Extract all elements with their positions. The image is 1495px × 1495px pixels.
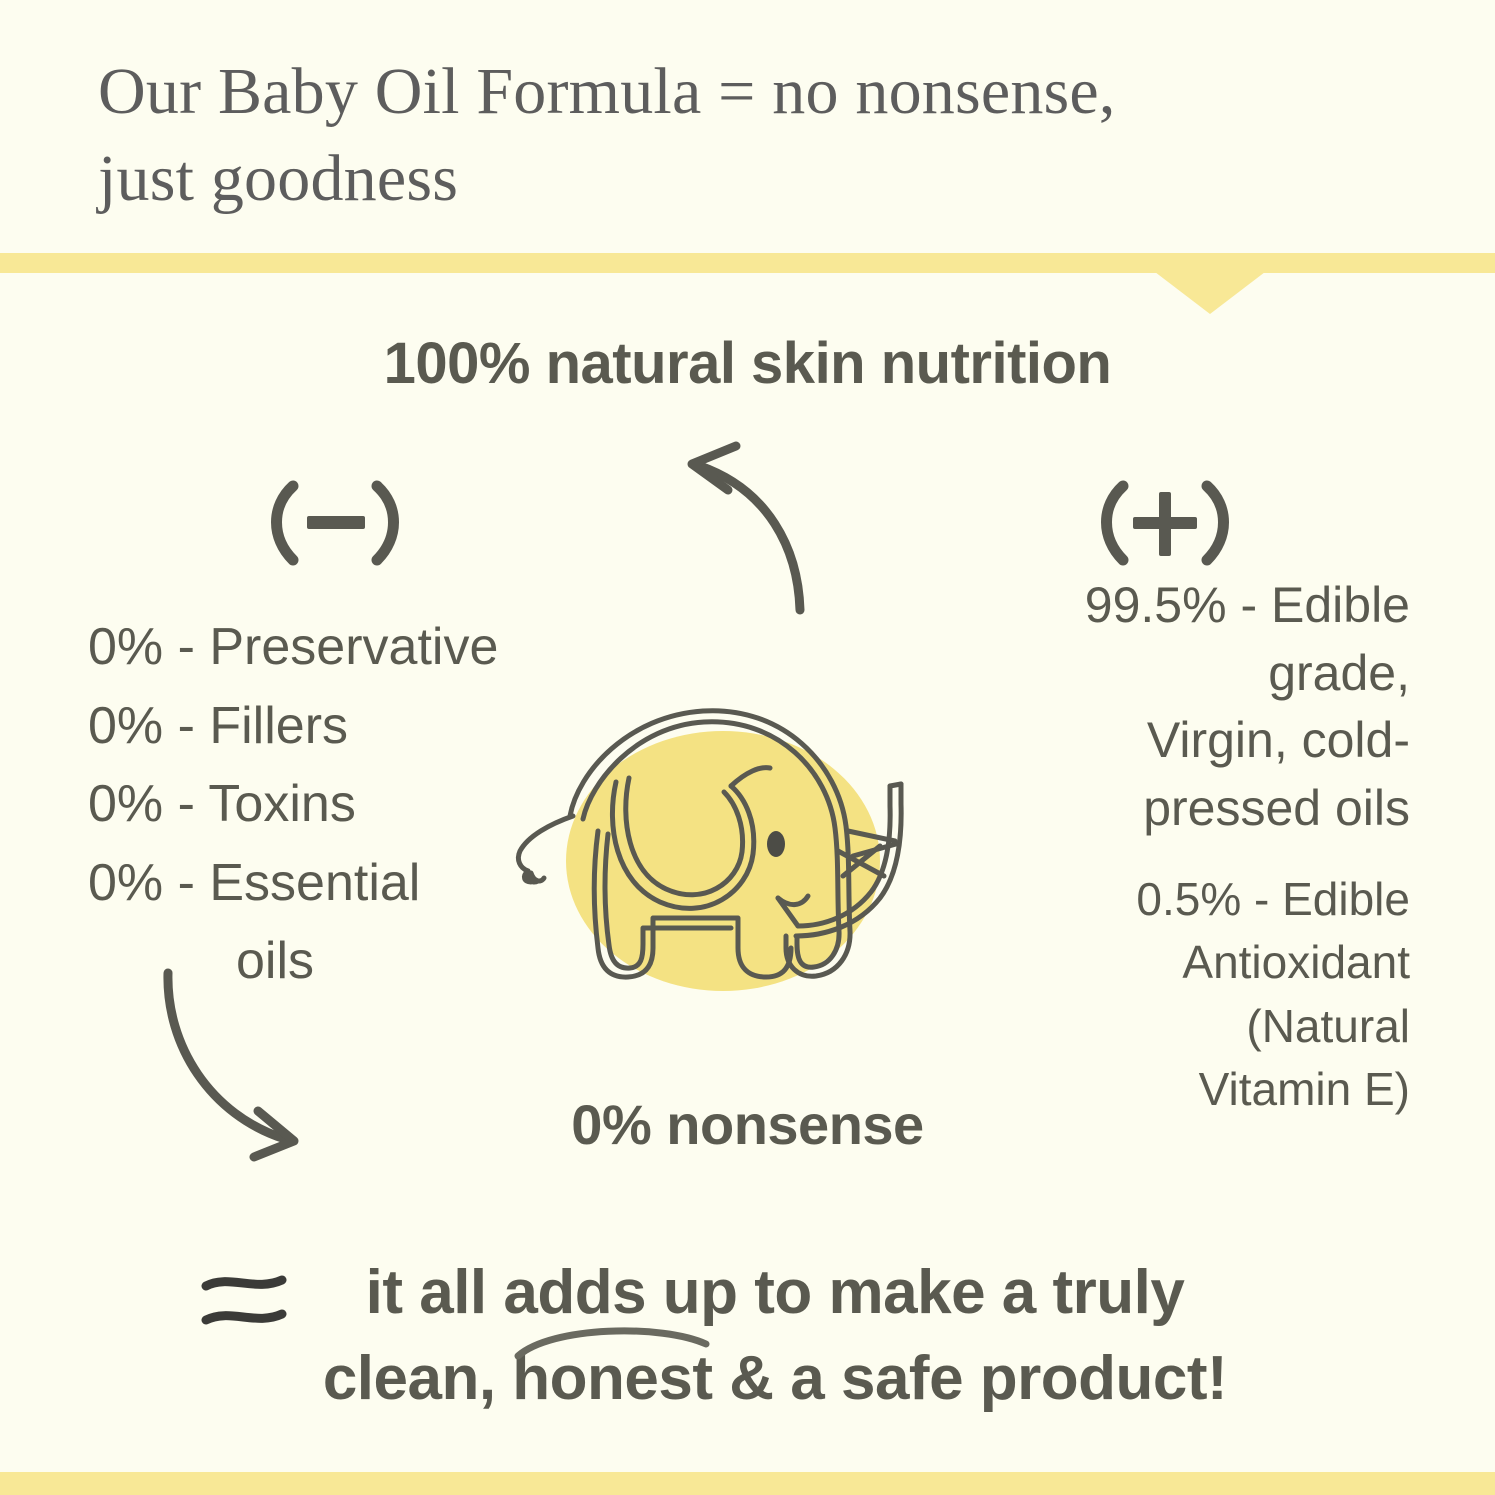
hand-drawn-underline-icon — [512, 1322, 712, 1362]
list-item: 0% - Preservative — [88, 608, 628, 687]
antioxidant-line2: Antioxidant — [1182, 936, 1410, 988]
oils-line2: Virgin, cold- — [1147, 712, 1410, 768]
curved-arrow-up-left-icon — [648, 428, 908, 618]
infographic-page: Our Baby Oil Formula = no nonsense, just… — [0, 0, 1495, 1495]
summary-line1: it all adds up to make a truly — [366, 1258, 1185, 1327]
positive-sign-icon — [1075, 472, 1255, 572]
top-divider-band — [0, 253, 1495, 273]
negative-sign-icon — [245, 472, 425, 572]
page-title-line2: just goodness — [98, 142, 458, 215]
nonsense-label: 0% nonsense — [0, 1092, 1495, 1157]
elephant-illustration — [498, 686, 988, 1026]
page-title-line1: Our Baby Oil Formula = no nonsense, — [98, 55, 1116, 128]
headline: 100% natural skin nutrition — [0, 330, 1495, 397]
oils-line1: 99.5% - Edible grade, — [1085, 577, 1410, 701]
summary-text: it all adds up to make a truly clean, ho… — [255, 1250, 1295, 1421]
page-title: Our Baby Oil Formula = no nonsense, just… — [98, 48, 1428, 222]
list-item-oils: 99.5% - Edible grade, Virgin, cold- pres… — [980, 572, 1410, 842]
divider-notch-triangle — [1155, 272, 1265, 314]
positive-ingredients-list: 99.5% - Edible grade, Virgin, cold- pres… — [980, 572, 1410, 1122]
oils-line3: pressed oils — [1143, 780, 1410, 836]
antioxidant-line3: (Natural — [980, 995, 1410, 1058]
bottom-divider-band — [0, 1472, 1495, 1495]
list-item-antioxidant: 0.5% - Edible Antioxidant (Natural Vitam… — [980, 868, 1410, 1122]
antioxidant-line1: 0.5% - Edible — [1136, 873, 1410, 925]
summary-line2: clean, honest & a safe product! — [323, 1344, 1227, 1413]
elephant-eye — [767, 831, 785, 857]
